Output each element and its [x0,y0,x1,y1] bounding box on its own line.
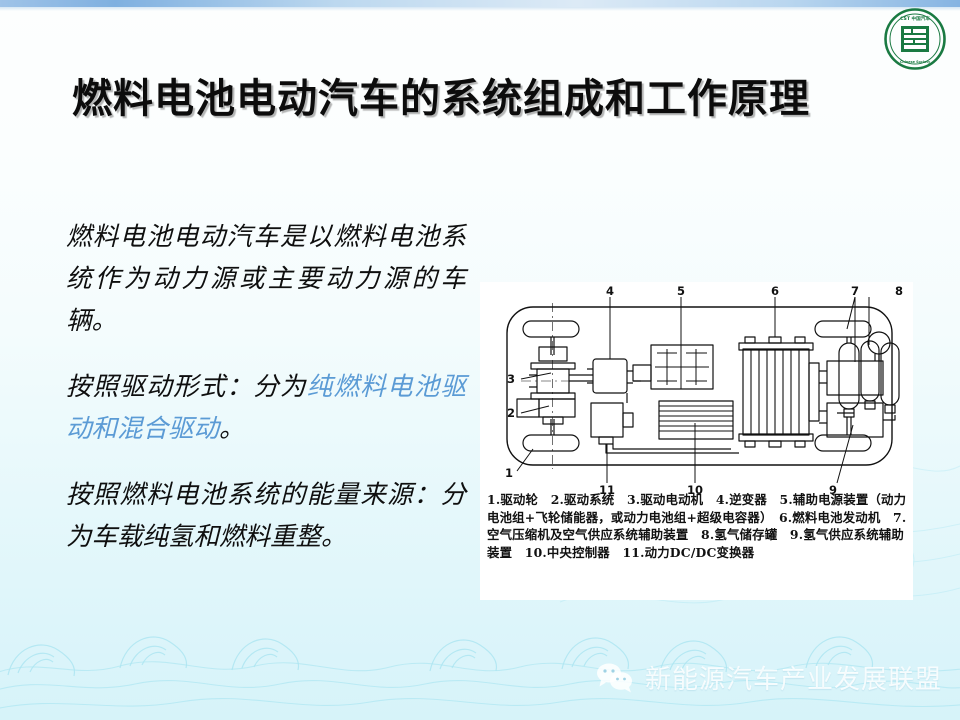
callout-5: 5 [677,284,685,298]
callout-2: 2 [507,406,515,420]
body-text-column: 燃料电池电动汽车是以燃料电池系统作为动力源或主要动力源的车辆。 按照驱动形式：分… [66,216,466,558]
fuel-cell-vehicle-layout-diagram: 4 5 6 7 8 3 2 1 11 10 9 [481,283,912,498]
svg-text:Chinese Society: Chinese Society [900,60,931,64]
watermark: 新能源汽车产业发展联盟 [595,659,942,696]
body-paragraph-1: 燃料电池电动汽车是以燃料电池系统作为动力源或主要动力源的车辆。 [66,216,466,342]
cst-circular-logo: CST 中国汽车 Chinese Society [884,8,946,70]
callout-7: 7 [851,284,859,298]
page-title: 燃料电池电动汽车的系统组成和工作原理 [72,66,892,124]
figure-panel: 4 5 6 7 8 3 2 1 11 10 9 1.驱动轮 2.驱动系统 3.驱… [481,283,912,599]
callout-3: 3 [507,372,515,386]
callout-6: 6 [771,284,779,298]
paragraph-2-suffix: 。 [219,414,245,444]
body-paragraph-2: 按照驱动形式：分为纯燃料电池驱动和混合驱动。 [66,366,466,450]
top-band-fade [0,7,960,11]
wechat-icon [595,661,635,695]
svg-text:CST 中国汽车: CST 中国汽车 [900,15,930,22]
callout-8: 8 [895,284,903,298]
top-decorative-band [0,0,960,7]
watermark-text: 新能源汽车产业发展联盟 [645,659,942,696]
body-paragraph-3: 按照燃料电池系统的能量来源：分为车载纯氢和燃料重整。 [66,474,466,558]
callout-1: 1 [505,466,513,480]
slide-canvas: CST 中国汽车 Chinese Society 燃料电池电动汽车的系统组成和工… [0,0,960,720]
figure-caption: 1.驱动轮 2.驱动系统 3.驱动电动机 4.逆变器 5.辅助电源装置（动力电池… [487,491,907,561]
callout-4: 4 [606,284,614,298]
paragraph-2-prefix: 按照驱动形式：分为 [66,372,307,402]
